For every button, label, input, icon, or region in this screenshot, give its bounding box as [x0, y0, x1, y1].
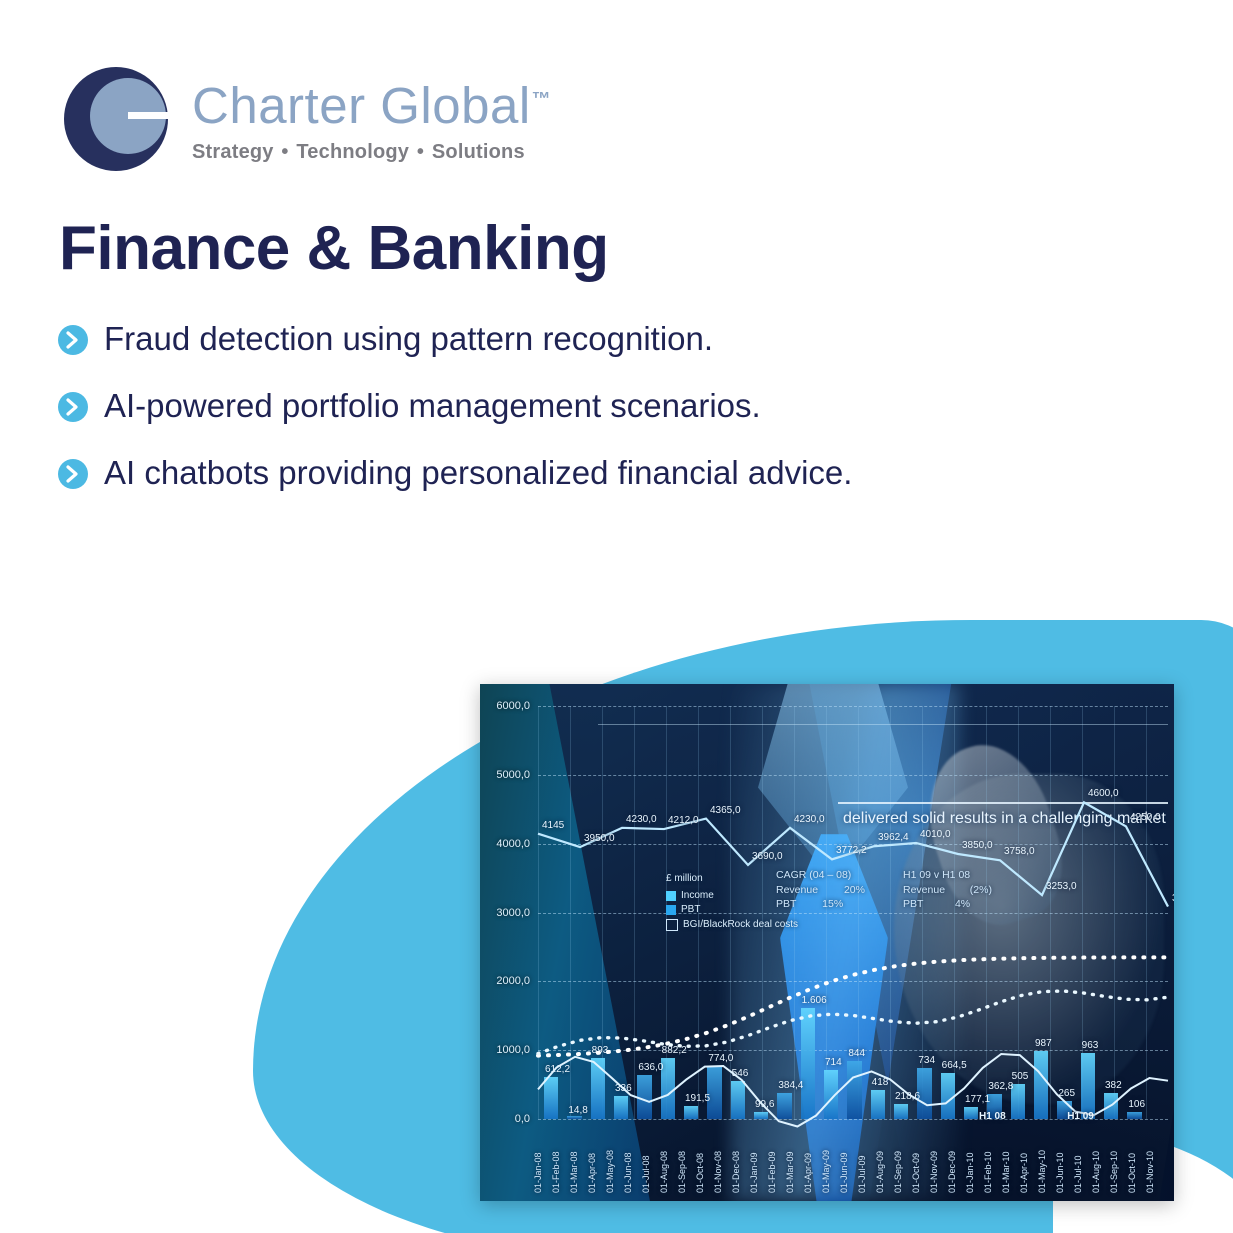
x-axis-tick-label: 01-Jan-08 [533, 1152, 543, 1193]
chart-bar [754, 1112, 768, 1119]
chart-bar [614, 1096, 628, 1119]
legend-swatch-deal-costs [666, 919, 678, 931]
tagline-separator-1: • [279, 141, 290, 163]
bar-value-label: 1.606 [802, 995, 827, 1006]
chart-bar [941, 1073, 955, 1119]
x-axis-tick-label: 01-Aug-10 [1091, 1151, 1101, 1193]
chart-bar [684, 1106, 698, 1119]
legend-swatch-pbt [666, 905, 676, 915]
x-axis-tick-label: 01-Feb-09 [767, 1151, 777, 1193]
chart-bar [894, 1104, 908, 1119]
x-axis-tick-label: 01-Nov-10 [1145, 1151, 1155, 1193]
chart-line-series [538, 706, 838, 856]
y-axis-tick-label: 0,0 [515, 1113, 530, 1125]
annotation-cagr-row1-value: 20% [821, 883, 865, 898]
chart-bar [1034, 1051, 1048, 1119]
list-item: AI chatbots providing personalized finan… [58, 454, 852, 492]
annotation-cagr-row2-label: PBT [776, 898, 796, 910]
chart-bar [964, 1107, 978, 1119]
y-axis-tick-label: 5000,0 [496, 769, 530, 781]
x-axis-tick-label: 01-May-10 [1037, 1150, 1047, 1193]
annotation-cagr-row2-value: 15% [799, 897, 843, 912]
tagline-solutions: Solutions [432, 141, 525, 163]
tagline-strategy: Strategy [192, 141, 274, 163]
bar-value-label: 714 [825, 1057, 842, 1068]
line-value-label: 3086,3 [1172, 893, 1174, 904]
slide-canvas: Charter Global™ Strategy • Technology • … [0, 0, 1233, 1233]
line-value-label: 4145 [542, 820, 564, 831]
annotation-h1-row1-label: Revenue [903, 884, 945, 896]
line-value-label: 3758,0 [1004, 846, 1035, 857]
page-title: Finance & Banking [59, 216, 609, 281]
x-axis-tick-label: 01-Aug-08 [659, 1151, 669, 1193]
bar-value-label: 384,4 [778, 1080, 803, 1091]
y-axis-tick-label: 3000,0 [496, 907, 530, 919]
bar-value-label: 177,1 [965, 1094, 990, 1105]
chart-headline-rule [838, 802, 1168, 804]
x-axis-tick-label: 01-Feb-10 [983, 1151, 993, 1193]
annotation-cagr-title: CAGR (04 – 08) [776, 868, 865, 883]
x-axis-tick-label: 01-Apr-09 [803, 1153, 813, 1193]
line-value-label: 3850,0 [962, 840, 993, 851]
line-value-label: 3253,0 [1046, 881, 1077, 892]
legend-unit-label: £ million [666, 872, 703, 887]
y-axis-tick-label: 6000,0 [496, 700, 530, 712]
x-axis-tick-label: 01-Oct-08 [695, 1153, 705, 1193]
x-axis-tick-label: 01-Jun-09 [839, 1152, 849, 1193]
y-axis-tick-label: 2000,0 [496, 975, 530, 987]
bar-value-label: 636,0 [638, 1062, 663, 1073]
list-item-label: Fraud detection using pattern recognitio… [104, 320, 713, 358]
line-value-label: 4010,0 [920, 829, 951, 840]
x-axis-tick-label: 01-May-08 [605, 1150, 615, 1193]
bar-value-label: 106 [1128, 1099, 1145, 1110]
x-axis-tick-label: 01-Sep-09 [893, 1151, 903, 1193]
annotation-h1-row2-value: 4% [926, 897, 970, 912]
chart-bar [1081, 1053, 1095, 1119]
tagline-technology: Technology [296, 141, 409, 163]
bar-value-label: 362,8 [988, 1081, 1013, 1092]
bullet-list: Fraud detection using pattern recognitio… [58, 320, 852, 492]
y-axis-tick-label: 4000,0 [496, 838, 530, 850]
bar-value-label: 418 [872, 1077, 889, 1088]
x-axis-tick-label: 01-Dec-08 [731, 1151, 741, 1193]
bar-value-label: 882,2 [662, 1045, 687, 1056]
annotation-cagr-row1-label: Revenue [776, 884, 818, 896]
x-axis-tick-label: 01-Dec-09 [947, 1151, 957, 1193]
x-axis-tick-label: 01-Oct-09 [911, 1153, 921, 1193]
x-axis-tick-label: 01-Feb-08 [551, 1151, 561, 1193]
bar-value-label: 774,0 [708, 1053, 733, 1064]
annotation-h1-row2-label: PBT [903, 898, 923, 910]
x-axis-tick-label: 01-Aug-09 [875, 1151, 885, 1193]
gridline [538, 981, 1168, 982]
legend-label-pbt: PBT [681, 903, 700, 918]
x-axis-tick-label: 01-Mar-08 [569, 1151, 579, 1193]
chart-plot-area: 0,01000,02000,03000,04000,05000,06000,0 … [538, 706, 1168, 1119]
x-axis-tick-label: 01-Mar-10 [1001, 1151, 1011, 1193]
x-axis-tick-label: 01-Nov-09 [929, 1151, 939, 1193]
x-axis-tick-label: 01-May-09 [821, 1150, 831, 1193]
x-axis-tick-label: 01-Apr-10 [1019, 1153, 1029, 1193]
x-axis-tick-label: 01-Sep-08 [677, 1151, 687, 1193]
line-value-label: 3962,4 [878, 832, 909, 843]
line-value-label: 4212,0 [668, 815, 699, 826]
bar-value-label: 963 [1082, 1040, 1099, 1051]
bar-value-label: 14,8 [568, 1105, 587, 1116]
legend-swatch-income [666, 891, 676, 901]
chart-headline: delivered solid results in a challenging… [843, 810, 1166, 828]
x-axis-tick-label: 01-Jun-10 [1055, 1152, 1065, 1193]
bar-value-label: 505 [1012, 1071, 1029, 1082]
annotation-h1-title: H1 09 v H1 08 [903, 868, 992, 883]
x-axis-tick-label: 01-Mar-09 [785, 1151, 795, 1193]
brand-tagline: Strategy • Technology • Solutions [192, 141, 551, 164]
x-axis-tick-label: 01-Jun-08 [623, 1152, 633, 1193]
bar-value-label: 734 [918, 1055, 935, 1066]
chevron-right-circle-icon [58, 459, 88, 489]
x-axis-tick-label: 01-Nov-08 [713, 1151, 723, 1193]
bar-value-label: 664,5 [942, 1060, 967, 1071]
chart-bar [1127, 1112, 1141, 1119]
x-axis-tick-label: 01-Jan-09 [749, 1152, 759, 1193]
annotation-h1-comparison: H1 09 v H1 08 Revenue (2%) PBT 4% [903, 868, 992, 912]
trademark-symbol: ™ [532, 89, 552, 110]
x-axis-tick-label: 01-Oct-10 [1127, 1153, 1137, 1193]
brand-name-text: Charter Global [192, 77, 531, 134]
brand-logo: Charter Global™ Strategy • Technology • … [62, 62, 551, 175]
bar-value-label: 987 [1035, 1038, 1052, 1049]
line-value-label: 3772,2 [836, 845, 867, 856]
line-value-label: 4365,0 [710, 805, 741, 816]
chart-bar [777, 1093, 791, 1119]
chart-bar [637, 1075, 651, 1119]
line-value-label: 3690,0 [752, 851, 783, 862]
x-axis-tick-label: 01-Apr-08 [587, 1153, 597, 1193]
bar-value-label: 844 [848, 1048, 865, 1059]
chevron-right-circle-icon [58, 392, 88, 422]
charter-global-circle-logo [62, 62, 176, 175]
line-value-label: 3950,0 [584, 833, 615, 844]
legend-label-deal-costs: BGI/BlackRock deal costs [683, 918, 798, 933]
y-axis-tick-label: 1000,0 [496, 1044, 530, 1056]
finance-chart-photo: 0,01000,02000,03000,04000,05000,06000,0 … [480, 684, 1174, 1201]
list-item: Fraud detection using pattern recognitio… [58, 320, 852, 358]
x-axis-tick-label: 01-Jul-09 [857, 1155, 867, 1193]
line-value-label: 4600,0 [1088, 788, 1119, 799]
chart-bar [731, 1081, 745, 1119]
x-axis-tick-label: 01-Jul-08 [641, 1155, 651, 1193]
chart-bar [847, 1061, 861, 1119]
tagline-separator-2: • [415, 141, 426, 163]
chevron-right-circle-icon [58, 325, 88, 355]
annotation-cagr: CAGR (04 – 08) Revenue 20% PBT 15% [776, 868, 865, 912]
bar-value-label: 612,2 [545, 1064, 570, 1075]
bar-value-label: 382 [1105, 1080, 1122, 1091]
list-item: AI-powered portfolio management scenario… [58, 387, 852, 425]
gridline [538, 913, 1168, 914]
x-axis-tick-label: 01-Jan-10 [965, 1152, 975, 1193]
line-value-label: 4230,0 [794, 814, 825, 825]
annotation-h1-row1-value: (2%) [948, 883, 992, 898]
bar-value-label: 191,5 [685, 1093, 710, 1104]
chart-bar [544, 1077, 558, 1119]
legend-label-income: Income [681, 889, 714, 904]
chart-bar [801, 1008, 815, 1119]
brand-name: Charter Global™ [192, 80, 551, 131]
chart-x-axis-labels: 01-Jan-0801-Feb-0801-Mar-0801-Apr-0801-M… [538, 1119, 1168, 1195]
line-value-label: 4250,0 [1130, 812, 1161, 823]
chart-bar [871, 1090, 885, 1119]
x-axis-tick-label: 01-Sep-10 [1109, 1151, 1119, 1193]
list-item-label: AI-powered portfolio management scenario… [104, 387, 761, 425]
list-item-label: AI chatbots providing personalized finan… [104, 454, 852, 492]
x-axis-tick-label: 01-Jul-10 [1073, 1155, 1083, 1193]
line-value-label: 4230,0 [626, 814, 657, 825]
